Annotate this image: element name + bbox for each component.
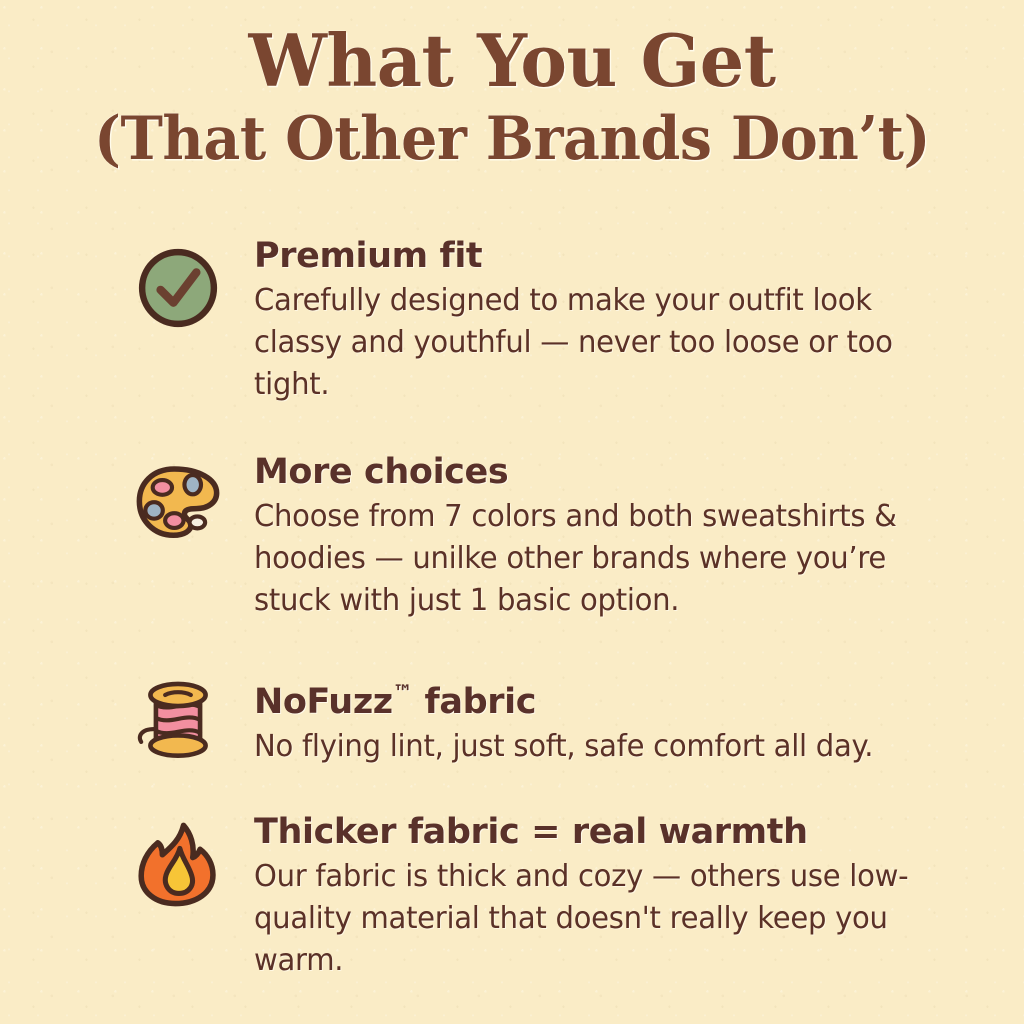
title-line-2: (That Other Brands Don’t) <box>26 104 999 174</box>
paint-palette-icon <box>132 458 224 550</box>
feature-heading: Thicker fabric = real warmth <box>254 812 972 852</box>
poster-canvas: What You Get (That Other Brands Don’t) P… <box>0 0 1024 1024</box>
feature-text-block: Premium fit Carefully designed to make y… <box>254 236 972 406</box>
feature-heading-suffix: fabric <box>413 682 536 722</box>
check-circle-icon <box>132 242 224 334</box>
feature-body: Choose from 7 colors and both sweatshirt… <box>254 496 950 622</box>
feature-heading: Premium fit <box>254 236 972 276</box>
feature-body: Carefully designed to make your outfit l… <box>254 280 950 406</box>
feature-heading-main: NoFuzz <box>254 682 393 722</box>
feature-body: No flying lint, just soft, safe comfort … <box>254 726 950 768</box>
feature-text-block: More choices Choose from 7 colors and bo… <box>254 452 972 622</box>
thread-spool-icon <box>132 672 224 764</box>
feature-item-premium-fit: Premium fit Carefully designed to make y… <box>132 236 972 406</box>
title-line-1: What You Get <box>15 18 1008 104</box>
feature-text-block: NoFuzz™ fabric No flying lint, just soft… <box>254 672 972 768</box>
feature-heading: NoFuzz™ fabric <box>254 672 972 722</box>
poster-title: What You Get (That Other Brands Don’t) <box>0 18 1024 174</box>
flame-icon <box>132 818 224 910</box>
feature-item-thicker-fabric: Thicker fabric = real warmth Our fabric … <box>132 812 972 982</box>
feature-text-block: Thicker fabric = real warmth Our fabric … <box>254 812 972 982</box>
feature-item-more-choices: More choices Choose from 7 colors and bo… <box>132 452 972 622</box>
feature-heading: More choices <box>254 452 972 492</box>
feature-item-nofuzz-fabric: NoFuzz™ fabric No flying lint, just soft… <box>132 672 972 768</box>
feature-body: Our fabric is thick and cozy — others us… <box>254 856 950 982</box>
trademark-symbol: ™ <box>393 680 413 704</box>
